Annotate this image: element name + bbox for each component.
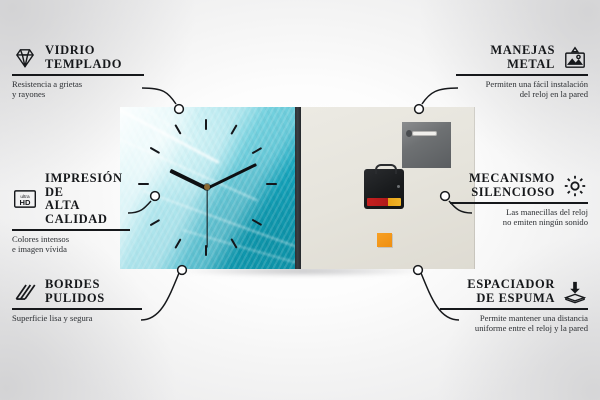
metal-hanger-bracket <box>402 122 451 168</box>
callout-header: MECANISMO SILENCIOSO <box>450 172 588 199</box>
callout-manejas-metal[interactable]: MANEJAS METAL Permiten una fácil instala… <box>456 44 588 99</box>
foam-spacer-press-icon <box>562 279 588 305</box>
callout-description: Permite mantener una distancia uniforme … <box>440 313 588 333</box>
clock-tick <box>150 219 160 226</box>
framed-picture-hanging-icon <box>562 45 588 71</box>
callout-bordes-pulidos[interactable]: BORDES PULIDOS Superficie lisa y segura <box>12 278 142 323</box>
polished-edges-icon <box>12 279 38 305</box>
callout-description: Superficie lisa y segura <box>12 313 142 323</box>
clock-tick <box>252 147 262 154</box>
clock-tick <box>230 124 237 134</box>
gear-icon <box>562 173 588 199</box>
callout-description: Las manecillas del reloj no emiten ningú… <box>450 207 588 227</box>
callout-description: Permiten una fácil instalación del reloj… <box>456 79 588 99</box>
clock-back-panel <box>301 107 475 269</box>
aa-battery <box>367 198 401 206</box>
product-image <box>120 107 480 275</box>
callout-header: VIDRIO TEMPLADO <box>12 44 144 71</box>
callout-rule <box>12 74 144 76</box>
feather-streak <box>182 229 295 267</box>
callout-title: BORDES PULIDOS <box>45 278 105 305</box>
svg-text:HD: HD <box>20 198 31 207</box>
mechanism-loop <box>375 164 397 174</box>
connector-line-vidrio-templado <box>142 88 176 104</box>
clock-hand-minute <box>206 163 257 190</box>
clock-tick <box>266 183 277 185</box>
callout-espaciador-de-espuma[interactable]: ESPACIADOR DE ESPUMA Permite mantener un… <box>440 278 588 333</box>
mechanism-dot <box>397 185 400 188</box>
callout-title: VIDRIO TEMPLADO <box>45 44 122 71</box>
feather-streak <box>120 107 220 164</box>
connector-line-bordes <box>141 273 179 320</box>
clock-hand-hour <box>169 169 207 190</box>
diamond-icon <box>12 45 38 71</box>
callout-title: MANEJAS METAL <box>490 44 555 71</box>
callout-description: Colores intensos e imagen vívida <box>12 234 130 254</box>
clock-tick <box>252 219 262 226</box>
callout-vidrio-templado[interactable]: VIDRIO TEMPLADO Resistencia a grietas y … <box>12 44 144 99</box>
foam-spacer <box>377 233 392 247</box>
callout-title: MECANISMO SILENCIOSO <box>469 172 555 199</box>
callout-rule <box>450 202 588 204</box>
connector-line-manejas <box>422 88 458 104</box>
infographic-canvas: VIDRIO TEMPLADO Resistencia a grietas y … <box>0 0 600 400</box>
clock-tick <box>174 238 181 248</box>
callout-rule <box>456 74 588 76</box>
callout-description: Resistencia a grietas y rayones <box>12 79 144 99</box>
callout-title: IMPRESIÓN DE ALTA CALIDAD <box>45 172 130 226</box>
callout-header: BORDES PULIDOS <box>12 278 142 305</box>
clock-tick <box>205 119 207 130</box>
clock-face-panel <box>120 107 295 269</box>
callout-mecanismo-silencioso[interactable]: MECANISMO SILENCIOSO Las manecillas del … <box>450 172 588 227</box>
silent-clock-mechanism <box>364 169 404 209</box>
callout-rule <box>12 229 130 231</box>
hanger-keyhole-slot <box>412 131 437 136</box>
feather-streak <box>120 107 193 142</box>
clock-tick <box>138 183 149 185</box>
callout-title: ESPACIADOR DE ESPUMA <box>467 278 555 305</box>
callout-header: ESPACIADOR DE ESPUMA <box>440 278 588 305</box>
clock-hand-hub <box>204 184 210 190</box>
callout-impresion-alta-calidad[interactable]: ultra HD IMPRESIÓN DE ALTA CALIDAD Color… <box>12 172 130 254</box>
callout-rule <box>12 308 142 310</box>
callout-header: ultra HD IMPRESIÓN DE ALTA CALIDAD <box>12 172 130 226</box>
callout-rule <box>440 308 588 310</box>
ultra-hd-icon: ultra HD <box>12 186 38 212</box>
callout-header: MANEJAS METAL <box>456 44 588 71</box>
clock-hand-second <box>206 188 207 248</box>
